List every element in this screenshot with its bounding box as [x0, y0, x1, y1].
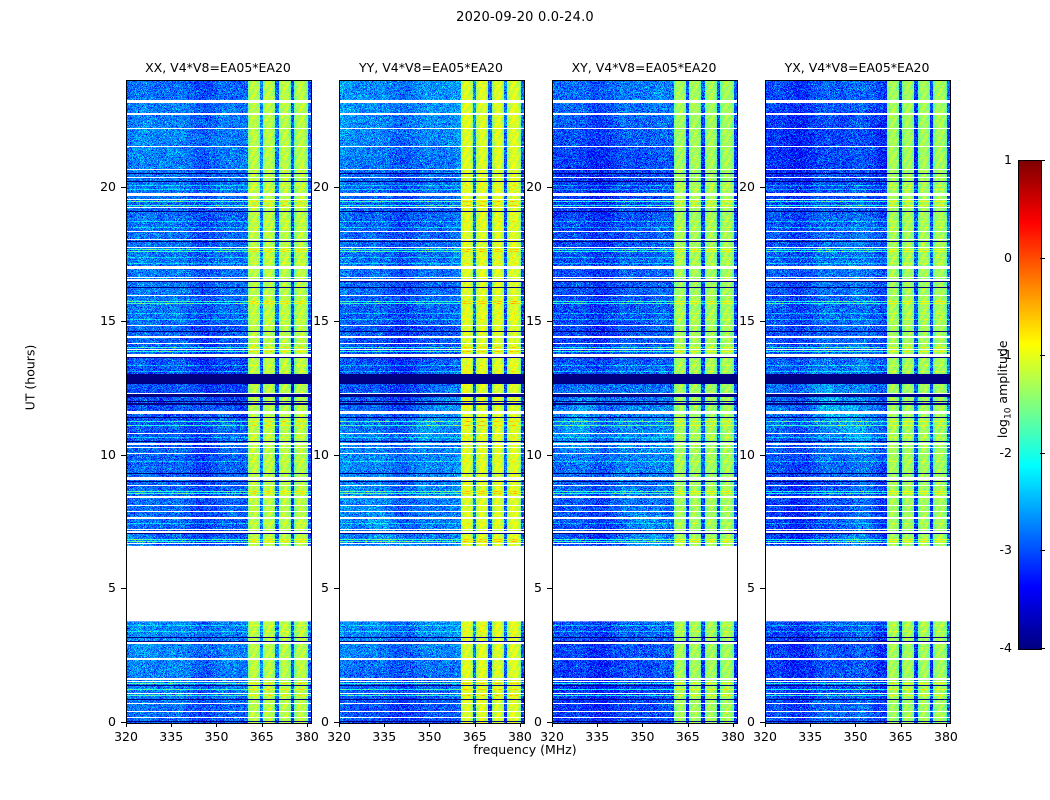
x-tickmark [946, 723, 947, 727]
heatmap-panel-xy[interactable] [552, 80, 738, 724]
figure-canvas: 2020-09-20 0.0-24.0 XX, V4*V8=EA05*EA20 … [0, 0, 1050, 800]
x-axis-label: frequency (MHz) [0, 742, 1050, 757]
y-tickmark [121, 722, 126, 723]
x-tick-label: 335 [364, 729, 404, 744]
y-tick-label: 0 [86, 714, 116, 729]
y-tick-label: 0 [725, 714, 755, 729]
y-tick-label: 5 [299, 580, 329, 595]
x-tick-label: 320 [532, 729, 572, 744]
y-tick-label: 10 [86, 447, 116, 462]
y-tick-label: 20 [86, 179, 116, 194]
x-tick-label: 365 [455, 729, 495, 744]
x-tickmark [171, 723, 172, 727]
x-tickmark [384, 723, 385, 727]
x-tick-label: 335 [151, 729, 191, 744]
y-tickmark [334, 187, 339, 188]
y-tickmark [121, 321, 126, 322]
colorbar-tick-label: 1 [986, 152, 1012, 167]
heatmap-panel-yy[interactable] [339, 80, 525, 724]
y-tickmark [334, 722, 339, 723]
y-tick-label: 20 [512, 179, 542, 194]
x-tickmark [765, 723, 766, 727]
x-tickmark [642, 723, 643, 727]
x-tickmark [901, 723, 902, 727]
y-tick-label: 20 [299, 179, 329, 194]
y-tickmark [760, 588, 765, 589]
colorbar-tick-label: 0 [986, 250, 1012, 265]
x-tick-label: 350 [409, 729, 449, 744]
y-tick-label: 10 [299, 447, 329, 462]
y-tick-label: 15 [299, 313, 329, 328]
y-tickmark [760, 321, 765, 322]
y-tick-label: 5 [512, 580, 542, 595]
colorbar-tick-label: -4 [986, 640, 1012, 655]
colorbar-tickmark [1040, 258, 1045, 259]
y-tickmark [547, 321, 552, 322]
x-tickmark [262, 723, 263, 727]
panel-title-yx: YX, V4*V8=EA05*EA20 [765, 60, 949, 76]
colorbar-tick-label: -3 [986, 542, 1012, 557]
y-tickmark [547, 722, 552, 723]
x-tick-label: 365 [668, 729, 708, 744]
y-tick-label: 20 [725, 179, 755, 194]
panel-title-xx: XX, V4*V8=EA05*EA20 [126, 60, 310, 76]
y-tick-label: 5 [725, 580, 755, 595]
y-tickmark [121, 588, 126, 589]
x-tick-label: 350 [622, 729, 662, 744]
y-tickmark [547, 187, 552, 188]
x-tick-label: 380 [926, 729, 966, 744]
heatmap-panel-xx[interactable] [126, 80, 312, 724]
y-tick-label: 0 [299, 714, 329, 729]
x-tick-label: 365 [242, 729, 282, 744]
x-tick-label: 320 [745, 729, 785, 744]
y-tick-label: 10 [725, 447, 755, 462]
x-tickmark [429, 723, 430, 727]
y-tickmark [334, 455, 339, 456]
y-tickmark [547, 588, 552, 589]
x-tick-label: 320 [319, 729, 359, 744]
panel-title-xy: XY, V4*V8=EA05*EA20 [552, 60, 736, 76]
y-tick-label: 15 [725, 313, 755, 328]
colorbar-tick-label: -1 [986, 347, 1012, 362]
x-tick-label: 335 [577, 729, 617, 744]
y-tick-label: 5 [86, 580, 116, 595]
panel-title-yy: YY, V4*V8=EA05*EA20 [339, 60, 523, 76]
heatmap-panel-yx[interactable] [765, 80, 951, 724]
colorbar-tickmark [1040, 355, 1045, 356]
x-tickmark [597, 723, 598, 727]
colorbar-tickmark [1040, 160, 1045, 161]
figure-suptitle: 2020-09-20 0.0-24.0 [0, 10, 1050, 25]
y-axis-label: UT (hours) [23, 308, 38, 448]
y-tickmark [121, 187, 126, 188]
y-tickmark [547, 455, 552, 456]
x-tickmark [475, 723, 476, 727]
x-tick-label: 320 [106, 729, 146, 744]
y-tickmark [334, 321, 339, 322]
y-tickmark [760, 187, 765, 188]
y-tickmark [121, 455, 126, 456]
y-tick-label: 10 [512, 447, 542, 462]
x-tick-label: 350 [835, 729, 875, 744]
colorbar-tickmark [1040, 550, 1045, 551]
x-tick-label: 350 [196, 729, 236, 744]
x-tick-label: 365 [881, 729, 921, 744]
y-tick-label: 15 [512, 313, 542, 328]
x-tickmark [126, 723, 127, 727]
colorbar [1018, 160, 1042, 650]
y-tickmark [334, 588, 339, 589]
colorbar-tickmark [1040, 453, 1045, 454]
y-tickmark [760, 455, 765, 456]
x-tickmark [552, 723, 553, 727]
x-tickmark [688, 723, 689, 727]
colorbar-tick-label: -2 [986, 445, 1012, 460]
colorbar-tickmark [1040, 648, 1045, 649]
y-tick-label: 15 [86, 313, 116, 328]
x-tickmark [216, 723, 217, 727]
x-tickmark [855, 723, 856, 727]
x-tickmark [810, 723, 811, 727]
x-tick-label: 335 [790, 729, 830, 744]
x-tickmark [339, 723, 340, 727]
y-tickmark [760, 722, 765, 723]
y-tick-label: 0 [512, 714, 542, 729]
